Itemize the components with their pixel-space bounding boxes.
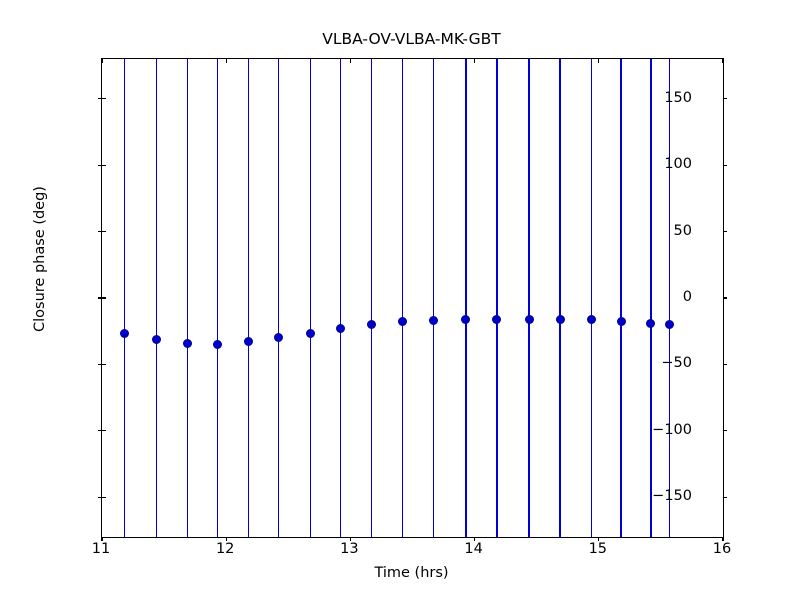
y-tick-mark-right xyxy=(723,165,727,166)
error-bar xyxy=(187,59,189,537)
y-axis-label: Closure phase (deg) xyxy=(32,59,48,459)
error-bar xyxy=(528,59,530,537)
error-bar xyxy=(156,59,158,537)
x-axis-label: Time (hrs) xyxy=(101,565,722,581)
error-bar xyxy=(433,59,435,537)
x-tick-label: 11 xyxy=(92,541,110,557)
data-point xyxy=(336,324,345,333)
error-bar xyxy=(371,59,373,537)
data-point xyxy=(367,320,376,329)
y-tick-mark-right xyxy=(723,231,727,232)
error-bar xyxy=(248,59,250,537)
data-point xyxy=(398,317,407,326)
plot-area xyxy=(101,58,724,538)
x-tick-mark-top xyxy=(350,59,351,63)
data-point xyxy=(556,315,565,324)
data-point xyxy=(120,329,129,338)
error-bar xyxy=(650,59,652,537)
error-bar xyxy=(465,59,467,537)
y-tick-label: 50 xyxy=(674,223,692,239)
data-point xyxy=(213,340,222,349)
data-point xyxy=(429,316,438,325)
y-tick-mark-right xyxy=(723,98,727,99)
y-tick-label: −150 xyxy=(652,488,692,504)
error-bar xyxy=(402,59,404,537)
y-tick-label: −100 xyxy=(652,422,692,438)
y-tick-label: 0 xyxy=(683,289,692,305)
x-tick-mark-top xyxy=(226,59,227,63)
y-tick-mark-inner xyxy=(102,364,106,365)
data-point xyxy=(665,320,674,329)
data-point xyxy=(617,317,626,326)
x-tick-label: 16 xyxy=(713,541,731,557)
data-point xyxy=(152,335,161,344)
data-point xyxy=(461,315,470,324)
error-bar xyxy=(278,59,280,537)
data-point xyxy=(646,319,655,328)
error-bar xyxy=(591,59,593,537)
data-point xyxy=(306,329,315,338)
x-tick-mark-top xyxy=(722,59,723,63)
x-tick-label: 12 xyxy=(216,541,234,557)
y-tick-mark-inner xyxy=(102,430,106,431)
data-point xyxy=(492,315,501,324)
x-tick-mark-top xyxy=(101,59,102,63)
y-tick-label: 100 xyxy=(664,156,692,172)
error-bar xyxy=(310,59,312,537)
x-tick-label: 14 xyxy=(464,541,482,557)
y-tick-mark-right xyxy=(723,497,727,498)
error-bar xyxy=(340,59,342,537)
data-point xyxy=(274,333,283,342)
x-tick-label: 15 xyxy=(589,541,607,557)
plot-inner xyxy=(102,59,723,537)
error-bar xyxy=(620,59,622,537)
y-tick-label: −50 xyxy=(661,355,692,371)
y-tick-mark-inner xyxy=(102,98,106,99)
y-tick-mark-inner xyxy=(102,297,106,298)
x-tick-mark-top xyxy=(598,59,599,63)
error-bar xyxy=(669,59,671,537)
y-tick-mark-inner xyxy=(102,497,106,498)
y-tick-mark-right xyxy=(723,297,727,298)
figure-canvas: VLBA-OV-VLBA-MK-GBT −150−100−50050100150… xyxy=(0,0,800,600)
error-bar xyxy=(124,59,126,537)
data-point xyxy=(525,315,534,324)
y-tick-mark-inner xyxy=(102,231,106,232)
y-tick-mark-right xyxy=(723,364,727,365)
data-point xyxy=(183,339,192,348)
data-point xyxy=(244,337,253,346)
x-tick-label: 13 xyxy=(340,541,358,557)
y-tick-mark-inner xyxy=(102,165,106,166)
error-bar xyxy=(217,59,219,537)
error-bar xyxy=(496,59,498,537)
error-bar xyxy=(559,59,561,537)
y-tick-label: 150 xyxy=(664,90,692,106)
chart-title: VLBA-OV-VLBA-MK-GBT xyxy=(101,30,722,48)
data-point xyxy=(587,315,596,324)
x-tick-mark-top xyxy=(474,59,475,63)
y-tick-mark-right xyxy=(723,430,727,431)
